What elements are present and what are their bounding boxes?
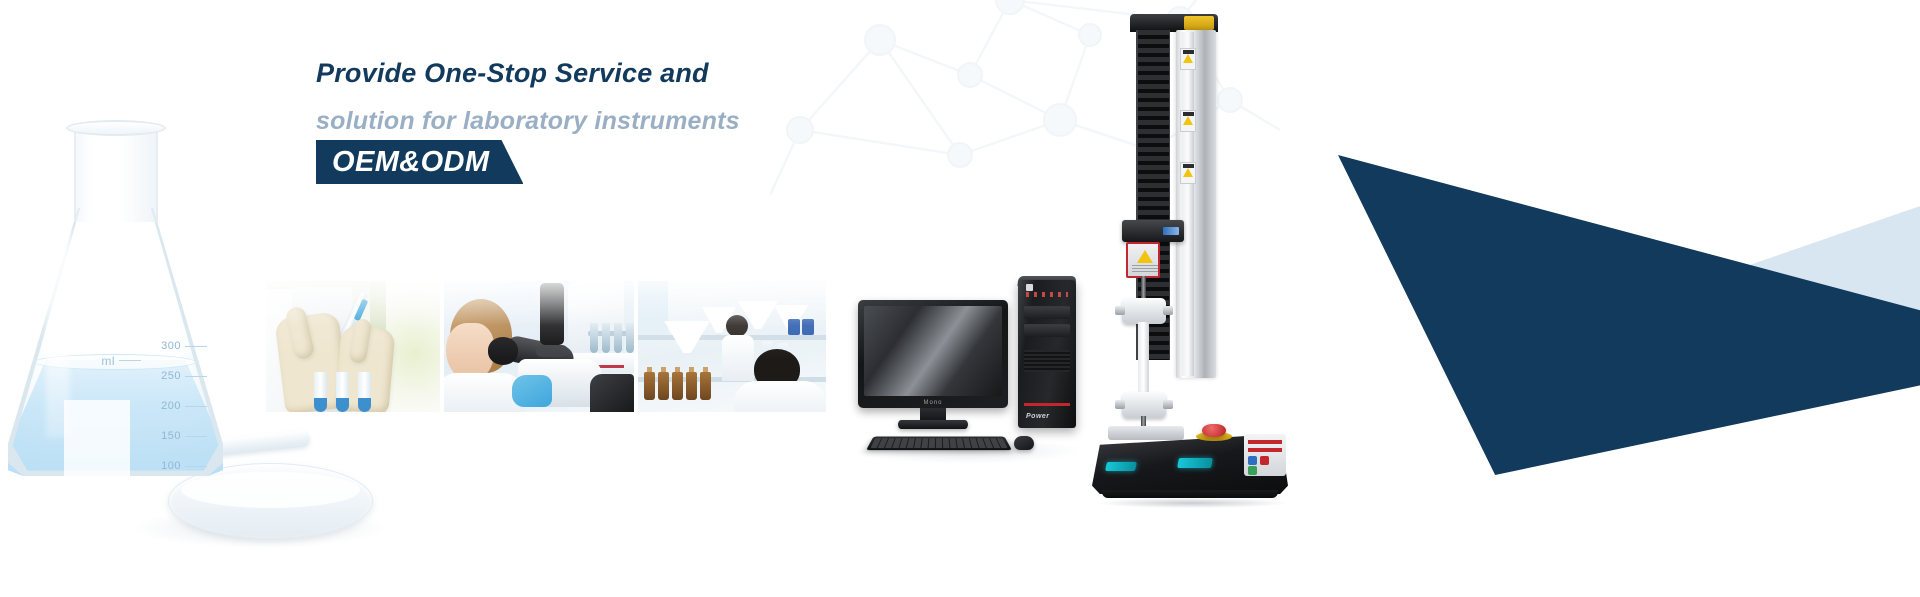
flask-neck bbox=[74, 126, 158, 222]
optical-drive-bay-b bbox=[1024, 324, 1070, 337]
tower-led-strip bbox=[1026, 292, 1068, 297]
power-button-icon[interactable] bbox=[1026, 284, 1033, 291]
photo-3-bottle-d bbox=[686, 372, 697, 400]
photo-2-foreground-equipment bbox=[590, 374, 634, 412]
mouse[interactable] bbox=[1014, 436, 1034, 450]
upper-grip bbox=[1122, 298, 1166, 324]
monitor-brand-label: Mono bbox=[858, 400, 1008, 406]
warning-label-icon-1 bbox=[1180, 48, 1196, 70]
photo-2-microscope-eyepiece bbox=[488, 337, 518, 365]
headline-line-1: Provide One-Stop Service and bbox=[316, 58, 1016, 89]
warning-label-icon-3 bbox=[1180, 162, 1196, 184]
lower-grip bbox=[1122, 392, 1166, 418]
photo-3-bottle-a bbox=[644, 372, 655, 400]
photo-2-tube-rack bbox=[590, 317, 634, 353]
headline-group: Provide One-Stop Service and solution fo… bbox=[316, 58, 1016, 136]
photo-3-technician-front-coat bbox=[734, 381, 826, 412]
photo-3-blue-cap-a bbox=[788, 319, 800, 335]
navy-arrow-shape bbox=[1338, 155, 1920, 475]
desktop-computer: Mono Power bbox=[858, 280, 1118, 455]
flask-label-patch bbox=[64, 400, 130, 478]
tester-base-plate bbox=[1108, 426, 1184, 440]
flask-graduation-150: 150 bbox=[161, 430, 181, 442]
flask-lip bbox=[66, 120, 166, 136]
photo-1-test-tube-b bbox=[336, 372, 349, 412]
tower-accent-stripe bbox=[1024, 403, 1070, 406]
monitor: Mono bbox=[858, 300, 1008, 408]
tester-feet bbox=[1102, 490, 1278, 498]
flask-graduation-200: 200 bbox=[161, 400, 181, 412]
tester-ground-shadow bbox=[1098, 498, 1286, 508]
computer-tower: Power bbox=[1018, 280, 1076, 428]
test-specimen bbox=[1138, 322, 1149, 394]
load-cell bbox=[1126, 242, 1160, 278]
warning-label-icon-2 bbox=[1180, 110, 1196, 132]
photo-3-bottle-c bbox=[672, 372, 683, 400]
flask-graduation-250: 250 bbox=[161, 370, 181, 382]
photo-3-bottle-e bbox=[700, 372, 711, 400]
photo-2-blue-glove bbox=[512, 375, 552, 407]
photo-3-blue-cap-b bbox=[802, 319, 814, 335]
tester-column-rail bbox=[1182, 32, 1194, 376]
photo-2-microscope-knob bbox=[536, 345, 568, 357]
photo-1-test-tube-c bbox=[358, 372, 371, 412]
tester-crosshead bbox=[1122, 220, 1184, 242]
photo-3-bottle-b bbox=[658, 372, 669, 400]
photo-strip bbox=[266, 281, 826, 412]
photo-3-technician-front bbox=[734, 349, 818, 412]
photo-3-technician-back-head bbox=[726, 315, 748, 337]
base-accent-light-left bbox=[1105, 462, 1137, 471]
monitor-screen bbox=[864, 306, 1002, 396]
erlenmeyer-flask: 300 250 200 150 100 ml bbox=[8, 108, 223, 480]
headline-line-2: solution for laboratory instruments bbox=[316, 107, 1016, 136]
optical-drive-bay-a bbox=[1024, 306, 1070, 319]
keyboard[interactable] bbox=[866, 437, 1012, 451]
photo-lab-technicians[interactable] bbox=[638, 281, 826, 412]
tester-top-accent bbox=[1184, 16, 1214, 30]
tower-front-vent bbox=[1024, 350, 1070, 372]
photo-2-microscope-column bbox=[540, 283, 564, 345]
photo-1-test-tube-a bbox=[314, 372, 327, 412]
flask-graduation-100: 100 bbox=[161, 460, 181, 472]
hero-banner: 300 250 200 150 100 ml Provide One-Stop … bbox=[0, 0, 1920, 597]
photo-pipetting-gloves[interactable] bbox=[266, 281, 440, 412]
flask-graduation-300: 300 bbox=[161, 340, 181, 352]
universal-testing-machine bbox=[1092, 14, 1288, 456]
monitor-stand-base bbox=[898, 420, 968, 429]
keyboard-keys bbox=[870, 438, 1007, 448]
oem-odm-label: OEM&ODM bbox=[332, 146, 489, 179]
tower-brand-label: Power bbox=[1026, 413, 1050, 420]
flask-unit-label: ml bbox=[101, 354, 115, 368]
emergency-stop-button[interactable] bbox=[1202, 424, 1226, 437]
base-accent-light-right bbox=[1177, 458, 1213, 468]
oem-odm-badge[interactable]: OEM&ODM bbox=[316, 140, 523, 184]
control-panel[interactable] bbox=[1244, 434, 1286, 476]
photo-microscope-researcher[interactable] bbox=[444, 281, 634, 412]
